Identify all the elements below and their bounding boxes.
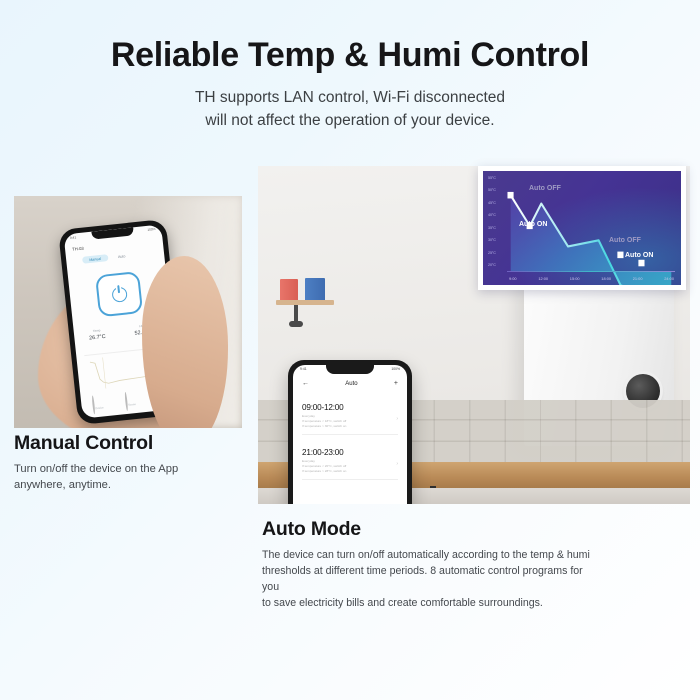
hand-fingers <box>142 256 228 428</box>
nav-scene[interactable]: Scene <box>125 392 136 411</box>
chart-axis-line <box>507 271 675 272</box>
x-tick: 12:00 <box>538 276 548 281</box>
book-blue <box>305 278 325 301</box>
page-title: Reliable Temp & Humi Control <box>0 38 700 74</box>
x-tick: 15:00 <box>570 276 580 281</box>
back-arrow-icon[interactable]: ← <box>302 380 309 387</box>
screen-title: Auto <box>345 381 357 387</box>
status-time: 9:41 <box>70 235 77 240</box>
annotation-auto-on: Auto ON <box>625 252 653 259</box>
x-tick: 21:00 <box>633 276 643 281</box>
chevron-right-icon: › <box>396 461 398 467</box>
chart-panel: 55°C 50°C 45°C 40°C 35°C 30°C 25°C 20°C <box>483 171 681 285</box>
chart-marker <box>638 260 644 267</box>
header: Reliable Temp & Humi Control TH supports… <box>0 0 700 132</box>
caption-body: The device can turn on/off automatically… <box>262 548 600 612</box>
annotation-auto-off: Auto OFF <box>529 185 561 192</box>
y-tick: 45°C <box>488 201 496 205</box>
y-tick: 25°C <box>488 251 496 255</box>
tab-manual[interactable]: Manual <box>82 254 108 264</box>
caption-body: Turn on/off the device on the App anywhe… <box>14 461 254 493</box>
mode-tabs[interactable]: Manual Auto <box>82 252 133 264</box>
status-battery: 100% <box>147 227 156 232</box>
schedule-row[interactable]: 09:00-12:00 Everyday If temperature < 18… <box>302 403 398 435</box>
device-name: TH-03 <box>72 246 84 252</box>
page-subtitle: TH supports LAN control, Wi-Fi disconnec… <box>0 86 700 133</box>
subtitle-line-1: TH supports LAN control, Wi-Fi disconnec… <box>195 89 505 106</box>
wall-shelf <box>276 300 334 305</box>
manual-control-photo: 9:41 100% TH-03 Manual Auto Temp 26.7°C … <box>14 196 242 428</box>
y-tick: 55°C <box>488 176 496 180</box>
chart-x-axis: 9:00 12:00 15:00 18:00 21:00 24:00 <box>509 276 674 281</box>
temperature-reading: Temp 26.7°C <box>88 328 106 341</box>
shelf-bracket <box>294 305 298 327</box>
status-time: 9:41 <box>300 367 307 371</box>
y-tick: 35°C <box>488 226 496 230</box>
manual-control-caption: Manual Control Turn on/off the device on… <box>14 432 254 493</box>
schedule-time: 09:00-12:00 <box>302 403 398 412</box>
app-header: ← Auto + <box>293 380 407 387</box>
chart-y-axis: 55°C 50°C 45°C 40°C 35°C 30°C 25°C 20°C <box>488 176 496 267</box>
schedule-row[interactable]: 21:00-23:00 Everyday If temperature < 20… <box>302 448 398 480</box>
plus-icon[interactable]: + <box>394 380 398 387</box>
y-tick: 20°C <box>488 263 496 267</box>
phone-notch <box>326 365 374 374</box>
schedule-time: 21:00-23:00 <box>302 448 398 457</box>
power-toggle-button[interactable] <box>95 271 143 317</box>
caption-title: Auto Mode <box>262 518 600 541</box>
tab-auto[interactable]: Auto <box>111 252 133 261</box>
temperature-value: 26.7°C <box>89 333 106 341</box>
schedule-detail: Everyday If temperature < 20°C, switch o… <box>302 459 398 473</box>
y-tick: 40°C <box>488 213 496 217</box>
nav-device[interactable]: Device <box>92 395 104 414</box>
subtitle-line-2: will not affect the operation of your de… <box>205 112 494 129</box>
phone-notch <box>91 227 134 239</box>
phone-screen-auto: 9:41 100% ← Auto + 09:00-12:00 Everyday … <box>293 365 407 504</box>
status-battery: 100% <box>391 367 400 371</box>
chart-marker <box>507 192 513 199</box>
annotation-auto-off: Auto OFF <box>609 237 641 244</box>
x-tick: 24:00 <box>664 276 674 281</box>
chart-marker <box>617 252 623 259</box>
book-red <box>280 279 298 301</box>
annotation-auto-on: Auto ON <box>519 221 547 228</box>
chevron-right-icon: › <box>396 416 398 422</box>
auto-mode-caption: Auto Mode The device can turn on/off aut… <box>262 518 600 612</box>
y-tick: 30°C <box>488 238 496 242</box>
schedule-detail: Everyday If temperature < 18°C, switch o… <box>302 414 398 428</box>
temperature-chart-card: 55°C 50°C 45°C 40°C 35°C 30°C 25°C 20°C <box>478 166 686 290</box>
x-tick: 9:00 <box>509 276 517 281</box>
caption-title: Manual Control <box>14 432 254 455</box>
power-icon <box>111 286 127 302</box>
device-icon <box>92 395 96 414</box>
phone-device-auto: 9:41 100% ← Auto + 09:00-12:00 Everyday … <box>288 360 412 504</box>
scene-icon <box>125 392 129 411</box>
x-tick: 18:00 <box>601 276 611 281</box>
y-tick: 50°C <box>488 188 496 192</box>
